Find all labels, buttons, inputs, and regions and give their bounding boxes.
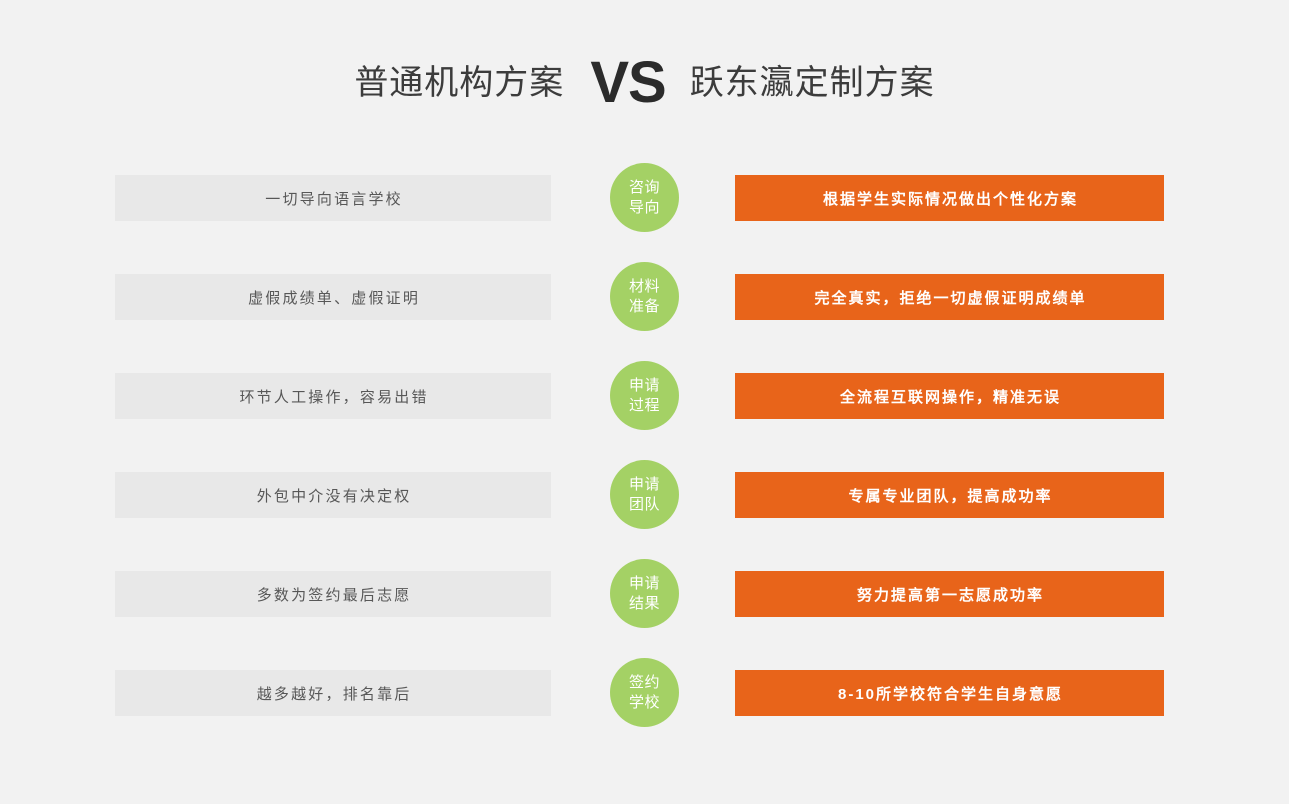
stage-circle: 咨询 导向 [610, 163, 679, 232]
stage-label-line2: 准备 [629, 297, 660, 317]
left-option-bar: 虚假成绩单、虚假证明 [115, 274, 551, 320]
right-option-label: 8-10所学校符合学生自身意愿 [836, 683, 1063, 704]
stage-circle: 签约 学校 [610, 658, 679, 727]
stage-label-line2: 团队 [629, 495, 660, 515]
comparison-row: 虚假成绩单、虚假证明 材料 准备 完全真实，拒绝一切虚假证明成绩单 [0, 274, 1289, 343]
right-option-bar: 全流程互联网操作，精准无误 [735, 373, 1164, 419]
right-option-bar: 根据学生实际情况做出个性化方案 [735, 175, 1164, 221]
stage-label-line2: 导向 [629, 198, 660, 218]
header-left-title: 普通机构方案 [354, 66, 590, 100]
left-option-label: 环节人工操作，容易出错 [237, 386, 428, 407]
left-option-bar: 外包中介没有决定权 [115, 472, 551, 518]
stage-circle: 申请 团队 [610, 460, 679, 529]
comparison-row: 一切导向语言学校 咨询 导向 根据学生实际情况做出个性化方案 [0, 175, 1289, 244]
stage-label-line1: 签约 [629, 673, 660, 693]
right-option-bar: 完全真实，拒绝一切虚假证明成绩单 [735, 274, 1164, 320]
stage-label-line2: 结果 [629, 594, 660, 614]
header-right-title: 跃东瀛定制方案 [666, 66, 935, 100]
right-option-label: 根据学生实际情况做出个性化方案 [821, 188, 1078, 209]
comparison-row: 多数为签约最后志愿 申请 结果 努力提高第一志愿成功率 [0, 571, 1289, 640]
stage-label-line1: 申请 [629, 475, 660, 495]
right-option-label: 努力提高第一志愿成功率 [855, 584, 1044, 605]
left-option-label: 多数为签约最后志愿 [255, 584, 412, 605]
right-option-label: 完全真实，拒绝一切虚假证明成绩单 [812, 287, 1086, 308]
stage-label-line2: 学校 [629, 693, 660, 713]
right-option-label: 全流程互联网操作，精准无误 [838, 386, 1061, 407]
header-vs-label: VS [590, 54, 665, 112]
stage-label-line1: 申请 [629, 574, 660, 594]
right-option-bar: 专属专业团队，提高成功率 [735, 472, 1164, 518]
stage-label-line1: 咨询 [629, 178, 660, 198]
comparison-row: 环节人工操作，容易出错 申请 过程 全流程互联网操作，精准无误 [0, 373, 1289, 442]
stage-label-line1: 申请 [629, 376, 660, 396]
left-option-bar: 环节人工操作，容易出错 [115, 373, 551, 419]
comparison-header: 普通机构方案 VS 跃东瀛定制方案 [0, 52, 1289, 114]
right-option-bar: 努力提高第一志愿成功率 [735, 571, 1164, 617]
stage-label-line1: 材料 [629, 277, 660, 297]
stage-circle: 申请 结果 [610, 559, 679, 628]
left-option-bar: 一切导向语言学校 [115, 175, 551, 221]
comparison-rows: 一切导向语言学校 咨询 导向 根据学生实际情况做出个性化方案 虚假成绩单、虚假证… [0, 175, 1289, 739]
stage-circle: 材料 准备 [610, 262, 679, 331]
left-option-bar: 越多越好，排名靠后 [115, 670, 551, 716]
stage-circle: 申请 过程 [610, 361, 679, 430]
left-option-label: 虚假成绩单、虚假证明 [246, 287, 420, 308]
right-option-bar: 8-10所学校符合学生自身意愿 [735, 670, 1164, 716]
comparison-row: 越多越好，排名靠后 签约 学校 8-10所学校符合学生自身意愿 [0, 670, 1289, 739]
right-option-label: 专属专业团队，提高成功率 [846, 485, 1052, 506]
left-option-label: 越多越好，排名靠后 [255, 683, 412, 704]
left-option-label: 一切导向语言学校 [263, 188, 403, 209]
comparison-row: 外包中介没有决定权 申请 团队 专属专业团队，提高成功率 [0, 472, 1289, 541]
left-option-label: 外包中介没有决定权 [255, 485, 412, 506]
stage-label-line2: 过程 [629, 396, 660, 416]
left-option-bar: 多数为签约最后志愿 [115, 571, 551, 617]
